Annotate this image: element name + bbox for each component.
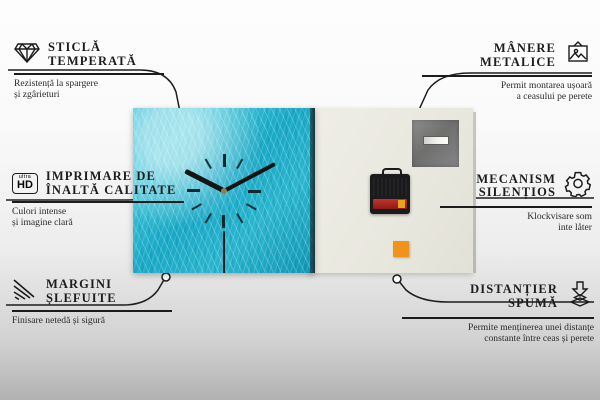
callout-hd-print: ultra HD IMPRIMARE DEÎNALTĂ CALITATE Cul…: [12, 170, 184, 228]
divider: [440, 206, 592, 208]
battery: [373, 199, 407, 209]
callout-title: MECANISMSILENȚIOS: [476, 173, 556, 200]
callout-metal-handles: MÂNEREMETALICE Permit montarea ușoarăa c…: [422, 40, 592, 102]
divider: [422, 75, 592, 77]
down-arrow-pad-icon: [566, 280, 594, 313]
ultra-hd-icon: ultra HD: [12, 173, 38, 194]
callout-title: STICLĂTEMPERATĂ: [48, 41, 137, 68]
callout-foam-spacer: DISTANȚIERSPUMĂ Permite menținerea unei …: [402, 280, 594, 344]
callout-tempered-glass: STICLĂTEMPERATĂ Rezistență la spargereși…: [14, 40, 164, 100]
callout-header: ultra HD IMPRIMARE DEÎNALTĂ CALITATE: [12, 170, 184, 197]
callout-subtitle: Klockvisare sominte låter: [440, 211, 592, 234]
callout-subtitle: Permite menținerea unei distanțeconstant…: [402, 322, 594, 345]
callout-title: DISTANȚIERSPUMĂ: [470, 283, 558, 310]
callout-header: MÂNEREMETALICE: [422, 40, 592, 71]
divider: [12, 310, 172, 312]
callout-subtitle: Finisare netedă și sigură: [12, 315, 172, 326]
divider: [402, 317, 594, 319]
mechanism-label: [373, 178, 407, 196]
product-photo: [133, 108, 473, 273]
hanger-slot: [423, 136, 449, 145]
callout-header: MECANISMSILENȚIOS: [440, 170, 592, 202]
callout-header: STICLĂTEMPERATĂ: [14, 40, 164, 69]
callout-subtitle: Rezistență la spargereși zgârieturi: [14, 78, 164, 101]
second-hand: [223, 231, 225, 274]
foam-spacer-pad: [393, 241, 409, 257]
metal-hanger: [412, 120, 459, 167]
callout-subtitle: Permit montarea ușoarăa ceasului pe pere…: [422, 80, 592, 103]
gear-icon: [564, 170, 592, 202]
callout-title: MÂNEREMETALICE: [480, 42, 556, 69]
callout-title: IMPRIMARE DEÎNALTĂ CALITATE: [46, 170, 177, 197]
infographic-canvas: STICLĂTEMPERATĂ Rezistență la spargereși…: [0, 0, 600, 400]
divider: [12, 201, 184, 203]
hand-cap: [221, 188, 227, 194]
diagonal-lines-icon: [12, 277, 38, 306]
glass-edge: [310, 108, 315, 273]
callout-silent-mechanism: MECANISMSILENȚIOS Klockvisare sominte lå…: [440, 170, 592, 233]
battery-plus-terminal: [398, 200, 405, 208]
picture-frame-icon: [564, 40, 592, 71]
callout-header: DISTANȚIERSPUMĂ: [402, 280, 594, 313]
divider: [14, 73, 164, 75]
diamond-icon: [14, 40, 40, 69]
clock-mechanism: [370, 174, 410, 214]
callout-polished-edges: MARGINIȘLEFUITE Finisare netedă și sigur…: [12, 277, 172, 326]
callout-header: MARGINIȘLEFUITE: [12, 277, 172, 306]
callout-title: MARGINIȘLEFUITE: [46, 278, 117, 305]
callout-subtitle: Culori intenseși imagine clară: [12, 206, 184, 229]
